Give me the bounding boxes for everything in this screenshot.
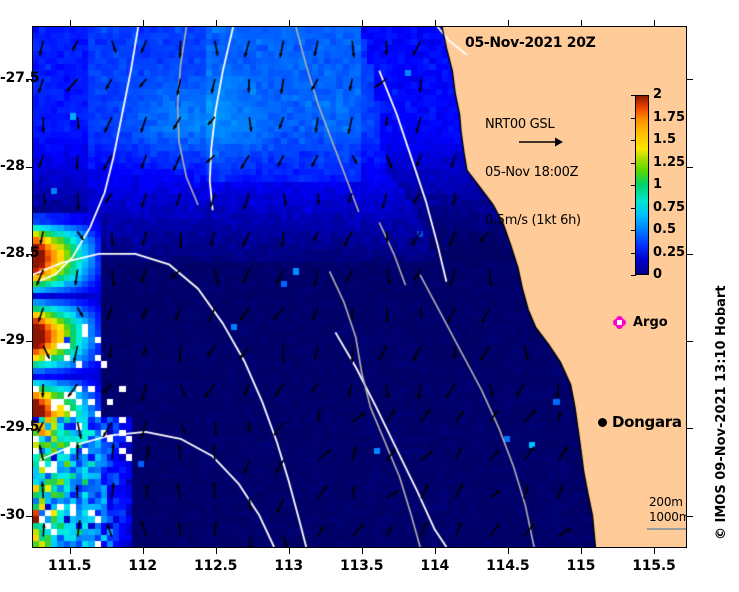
current-scale: 0.5m/s (1kt 6h) <box>485 213 581 229</box>
x-tick-top <box>143 20 144 26</box>
place-marker-dongara[interactable]: Dongara <box>598 413 682 431</box>
colorbar-tick-label: 0.75 <box>653 200 685 215</box>
y-tick-right <box>687 79 693 80</box>
colorbar-tick-label: 0 <box>653 267 662 282</box>
colorbar-tick-label: 0.25 <box>653 245 685 260</box>
current-overlay-info: NRT00 GSL 05-Nov 18:00Z 0.5m/s (1kt 6h) <box>485 85 581 261</box>
y-tick <box>26 516 32 517</box>
x-tick <box>508 548 509 554</box>
x-tick-top <box>216 20 217 26</box>
colorbar-gradient <box>635 95 649 275</box>
colorbar-tick-label: 1 <box>653 177 662 192</box>
y-tick-right <box>687 167 693 168</box>
y-tick-label: -27.5 <box>0 70 21 86</box>
colorbar-tick <box>631 275 636 276</box>
colorbar-tick-label: 2 <box>653 87 662 102</box>
x-tick-top <box>654 20 655 26</box>
current-valid-time: 05-Nov 18:00Z <box>485 165 581 181</box>
x-tick <box>362 548 363 554</box>
x-tick-top <box>435 20 436 26</box>
x-tick-label: 113.5 <box>332 558 392 574</box>
map-plot-area[interactable]: 05-Nov-2021 20Z NRT00 GSL 05-Nov 18:00Z … <box>32 26 687 548</box>
east-arrow-icon <box>517 135 565 149</box>
map-title-date: 05-Nov-2021 20Z <box>465 35 596 51</box>
x-tick <box>654 548 655 554</box>
x-tick-label: 111.5 <box>40 558 100 574</box>
x-tick <box>216 548 217 554</box>
figure-canvas: 05-Nov-2021 20Z NRT00 GSL 05-Nov 18:00Z … <box>0 0 739 592</box>
legend-item-argo[interactable]: Argo <box>613 315 668 330</box>
x-tick-top <box>362 20 363 26</box>
y-tick-label: -28 <box>0 158 21 174</box>
colorbar-tick <box>631 118 636 119</box>
colorbar-tick <box>631 185 636 186</box>
x-tick-top <box>289 20 290 26</box>
colorbar-tick <box>631 208 636 209</box>
colorbar-tick <box>631 163 636 164</box>
x-tick <box>581 548 582 554</box>
y-tick-right <box>687 428 693 429</box>
y-tick-right <box>687 254 693 255</box>
colorbar-tick <box>631 253 636 254</box>
legend-label-argo: Argo <box>633 315 668 330</box>
x-tick-label: 115 <box>551 558 611 574</box>
bathymetry-scale-rule <box>647 528 687 530</box>
y-tick-right <box>687 516 693 517</box>
contour-1000m-label: 1000m <box>649 510 687 525</box>
argo-float-icon <box>613 316 626 329</box>
x-tick <box>70 548 71 554</box>
y-tick-label: -30 <box>0 507 21 523</box>
y-tick-label: -29 <box>0 332 21 348</box>
colorbar[interactable]: 21.751.51.2510.750.50.250 Age (days) of … <box>635 87 687 307</box>
y-tick <box>26 167 32 168</box>
x-tick <box>435 548 436 554</box>
x-tick <box>143 548 144 554</box>
x-tick <box>289 548 290 554</box>
colorbar-tick-label: 1.5 <box>653 132 676 147</box>
x-tick-top <box>581 20 582 26</box>
x-tick-top <box>70 20 71 26</box>
colorbar-tick <box>631 95 636 96</box>
colorbar-tick-label: 1.25 <box>653 155 685 170</box>
current-product: NRT00 GSL <box>485 117 581 133</box>
x-tick-label: 112 <box>113 558 173 574</box>
y-tick-label: -28.5 <box>0 245 21 261</box>
x-tick-label: 115.5 <box>624 558 684 574</box>
copyright-credit: © IMOS 09-Nov-2021 13:10 Hobart <box>714 285 729 540</box>
city-dot-icon <box>598 418 607 427</box>
x-tick-label: 112.5 <box>186 558 246 574</box>
y-tick-label: -29.5 <box>0 419 21 435</box>
colorbar-tick <box>631 140 636 141</box>
x-tick-label: 114 <box>405 558 465 574</box>
sst-age-heatmap <box>33 27 686 547</box>
colorbar-tick-label: 1.75 <box>653 110 685 125</box>
bathymetry-key: 200m 1000m <box>649 495 687 525</box>
colorbar-tick <box>631 230 636 231</box>
y-tick-right <box>687 341 693 342</box>
city-label: Dongara <box>612 413 682 431</box>
x-tick-top <box>508 20 509 26</box>
x-tick-label: 114.5 <box>478 558 538 574</box>
y-tick <box>26 341 32 342</box>
contour-200m-label: 200m <box>649 495 687 510</box>
x-tick-label: 113 <box>259 558 319 574</box>
colorbar-tick-label: 0.5 <box>653 222 676 237</box>
